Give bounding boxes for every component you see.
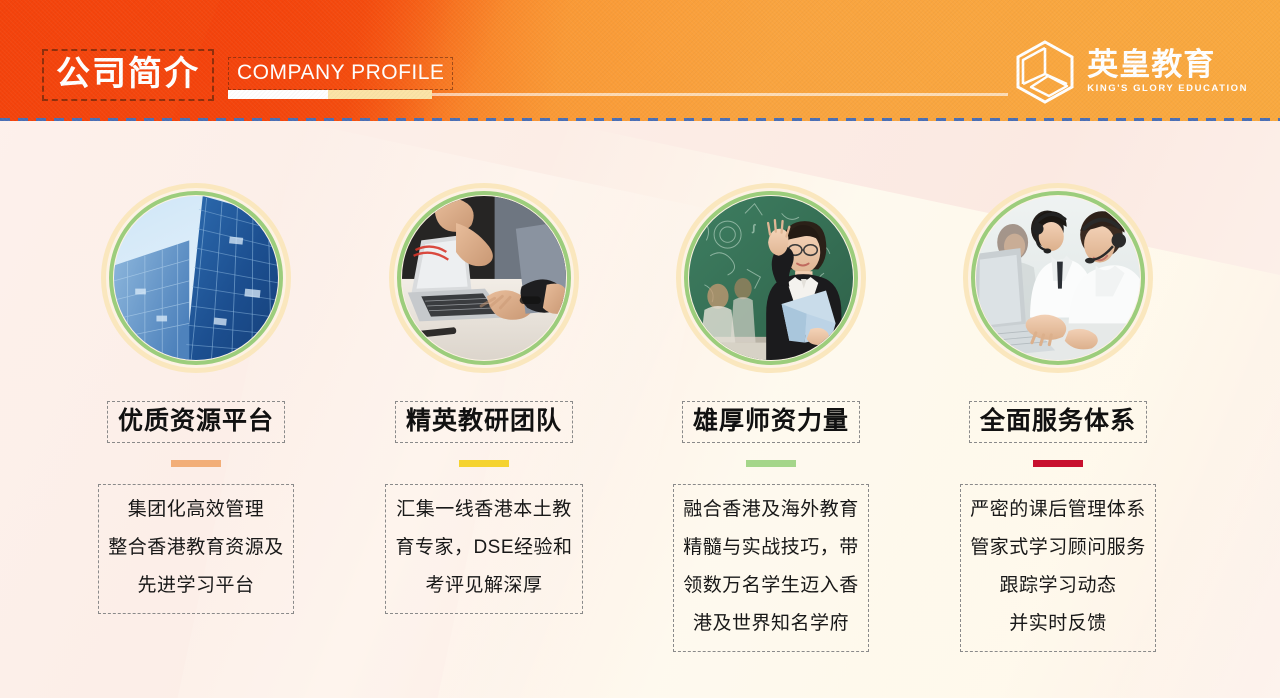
card-photo-ring — [963, 183, 1153, 373]
card-divider — [1033, 460, 1083, 467]
card-title-box: 优质资源平台 — [107, 401, 285, 443]
card-title: 雄厚师资力量 — [693, 406, 849, 436]
feature-card-row: 优质资源平台 集团化高效管理 整合香港教育资源及 先进学习平台 — [0, 121, 1280, 698]
team-laptop-meeting-photo — [402, 196, 566, 360]
card-body-line: 整合香港教育资源及 — [108, 529, 284, 567]
feature-card[interactable]: ∫ Σx a²+b² — [627, 121, 915, 652]
card-body-line: 考评见解深厚 — [395, 567, 572, 605]
brand-name-en: KING'S GLORY EDUCATION — [1087, 82, 1248, 96]
slide-root: 公司简介 COMPANY PROFILE 英皇教育 KING'S GLORY E… — [0, 0, 1280, 698]
header-banner: 公司简介 COMPANY PROFILE 英皇教育 KING'S GLORY E… — [0, 0, 1280, 121]
feature-card[interactable]: 优质资源平台 集团化高效管理 整合香港教育资源及 先进学习平台 — [52, 121, 340, 614]
card-body-line: 融合香港及海外教育 — [683, 491, 859, 529]
teacher-at-blackboard-photo: ∫ Σx a²+b² — [689, 196, 853, 360]
page-title: 公司简介 — [56, 54, 200, 94]
card-title-box: 精英教研团队 — [395, 401, 573, 443]
brand-name-cn: 英皇教育 — [1087, 48, 1215, 82]
card-title: 优质资源平台 — [118, 406, 274, 436]
card-body-line: 管家式学习顾问服务 — [970, 529, 1146, 567]
card-title: 全面服务体系 — [980, 406, 1136, 436]
glass-office-building-photo — [114, 196, 278, 360]
page-subtitle: COMPANY PROFILE — [237, 60, 444, 86]
feature-card[interactable]: 全面服务体系 严密的课后管理体系 管家式学习顾问服务 跟踪学习动态 并实时反馈 — [914, 121, 1202, 652]
card-divider — [746, 460, 796, 467]
page-title-box: 公司简介 — [42, 49, 214, 101]
card-photo-ring: ∫ Σx a²+b² — [676, 183, 866, 373]
card-body-box: 汇集一线香港本土教 育专家，DSE经验和 考评见解深厚 — [385, 484, 582, 614]
card-body-box: 融合香港及海外教育 精髓与实战技巧，带 领数万名学生迈入香 港及世界知名学府 — [673, 484, 869, 652]
card-photo-ring — [101, 183, 291, 373]
card-body-line: 领数万名学生迈入香 — [683, 567, 859, 605]
brand-logo-text: 英皇教育 KING'S GLORY EDUCATION — [1087, 48, 1248, 96]
card-body-line: 集团化高效管理 — [108, 491, 284, 529]
card-photo-ring — [389, 183, 579, 373]
card-body-line: 并实时反馈 — [970, 605, 1146, 643]
card-body-line: 严密的课后管理体系 — [970, 491, 1146, 529]
card-divider — [459, 460, 509, 467]
brand-logo: 英皇教育 KING'S GLORY EDUCATION — [1015, 40, 1248, 104]
accent-bar-white — [228, 90, 328, 99]
card-body-line: 港及世界知名学府 — [683, 605, 859, 643]
call-center-staff-photo — [976, 196, 1140, 360]
card-body-line: 育专家，DSE经验和 — [395, 529, 572, 567]
accent-bar-cream — [328, 90, 432, 99]
card-body-line: 先进学习平台 — [108, 567, 284, 605]
card-divider — [171, 460, 221, 467]
card-title-box: 全面服务体系 — [969, 401, 1147, 443]
card-body-line: 精髓与实战技巧，带 — [683, 529, 859, 567]
card-body-line: 汇集一线香港本土教 — [395, 491, 572, 529]
card-body-box: 严密的课后管理体系 管家式学习顾问服务 跟踪学习动态 并实时反馈 — [960, 484, 1156, 652]
hexagon-cube-logo-icon — [1015, 40, 1075, 104]
feature-card[interactable]: 精英教研团队 汇集一线香港本土教 育专家，DSE经验和 考评见解深厚 — [340, 121, 628, 614]
card-body-line: 跟踪学习动态 — [970, 567, 1146, 605]
page-subtitle-box: COMPANY PROFILE — [228, 57, 453, 90]
card-title-box: 雄厚师资力量 — [682, 401, 860, 443]
accent-rule-line — [432, 93, 1008, 96]
card-title: 精英教研团队 — [406, 406, 562, 436]
card-body-box: 集团化高效管理 整合香港教育资源及 先进学习平台 — [98, 484, 294, 614]
